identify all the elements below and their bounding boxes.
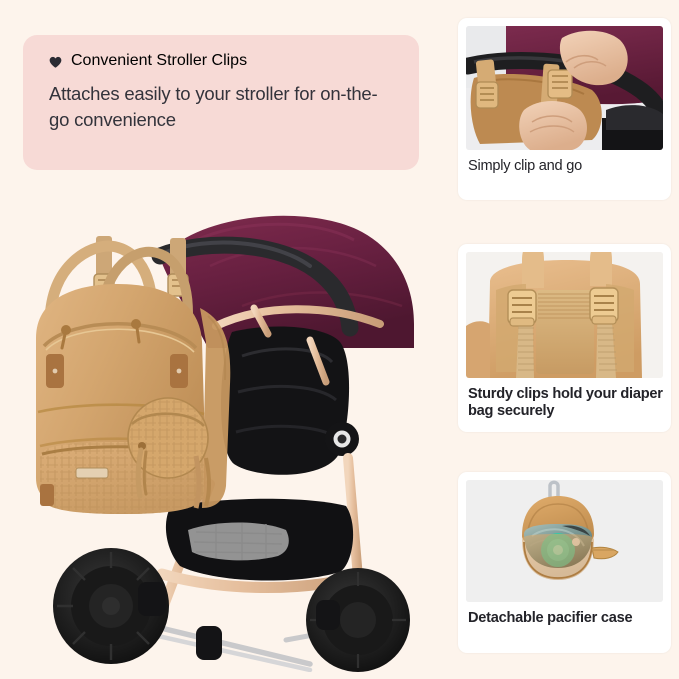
hero-product-photo — [10, 196, 446, 672]
feature-heading-row: Convenient Stroller Clips — [49, 52, 393, 70]
right-column: Simply clip and go — [448, 0, 679, 679]
sturdy-clips-photo — [466, 252, 663, 378]
info-card-sturdy: Sturdy clips hold your diaper bag secure… — [458, 244, 671, 432]
left-column: Convenient Stroller Clips Attaches easil… — [0, 0, 448, 679]
info-card-clip: Simply clip and go — [458, 18, 671, 200]
card-caption-sturdy: Sturdy clips hold your diaper bag secure… — [466, 386, 663, 420]
card-caption-pacifier: Detachable pacifier case — [466, 610, 663, 627]
pacifier-case-photo — [466, 480, 663, 602]
info-card-pacifier: Detachable pacifier case — [458, 472, 671, 653]
feature-highlight-card: Convenient Stroller Clips Attaches easil… — [23, 35, 419, 170]
heart-icon — [49, 56, 62, 69]
feature-description: Attaches easily to your stroller for on-… — [49, 81, 393, 134]
clip-left — [508, 290, 536, 326]
clip-photo — [466, 26, 663, 150]
feature-title: Convenient Stroller Clips — [71, 52, 247, 70]
clip-right — [590, 288, 618, 324]
card-caption-clip: Simply clip and go — [466, 158, 663, 175]
